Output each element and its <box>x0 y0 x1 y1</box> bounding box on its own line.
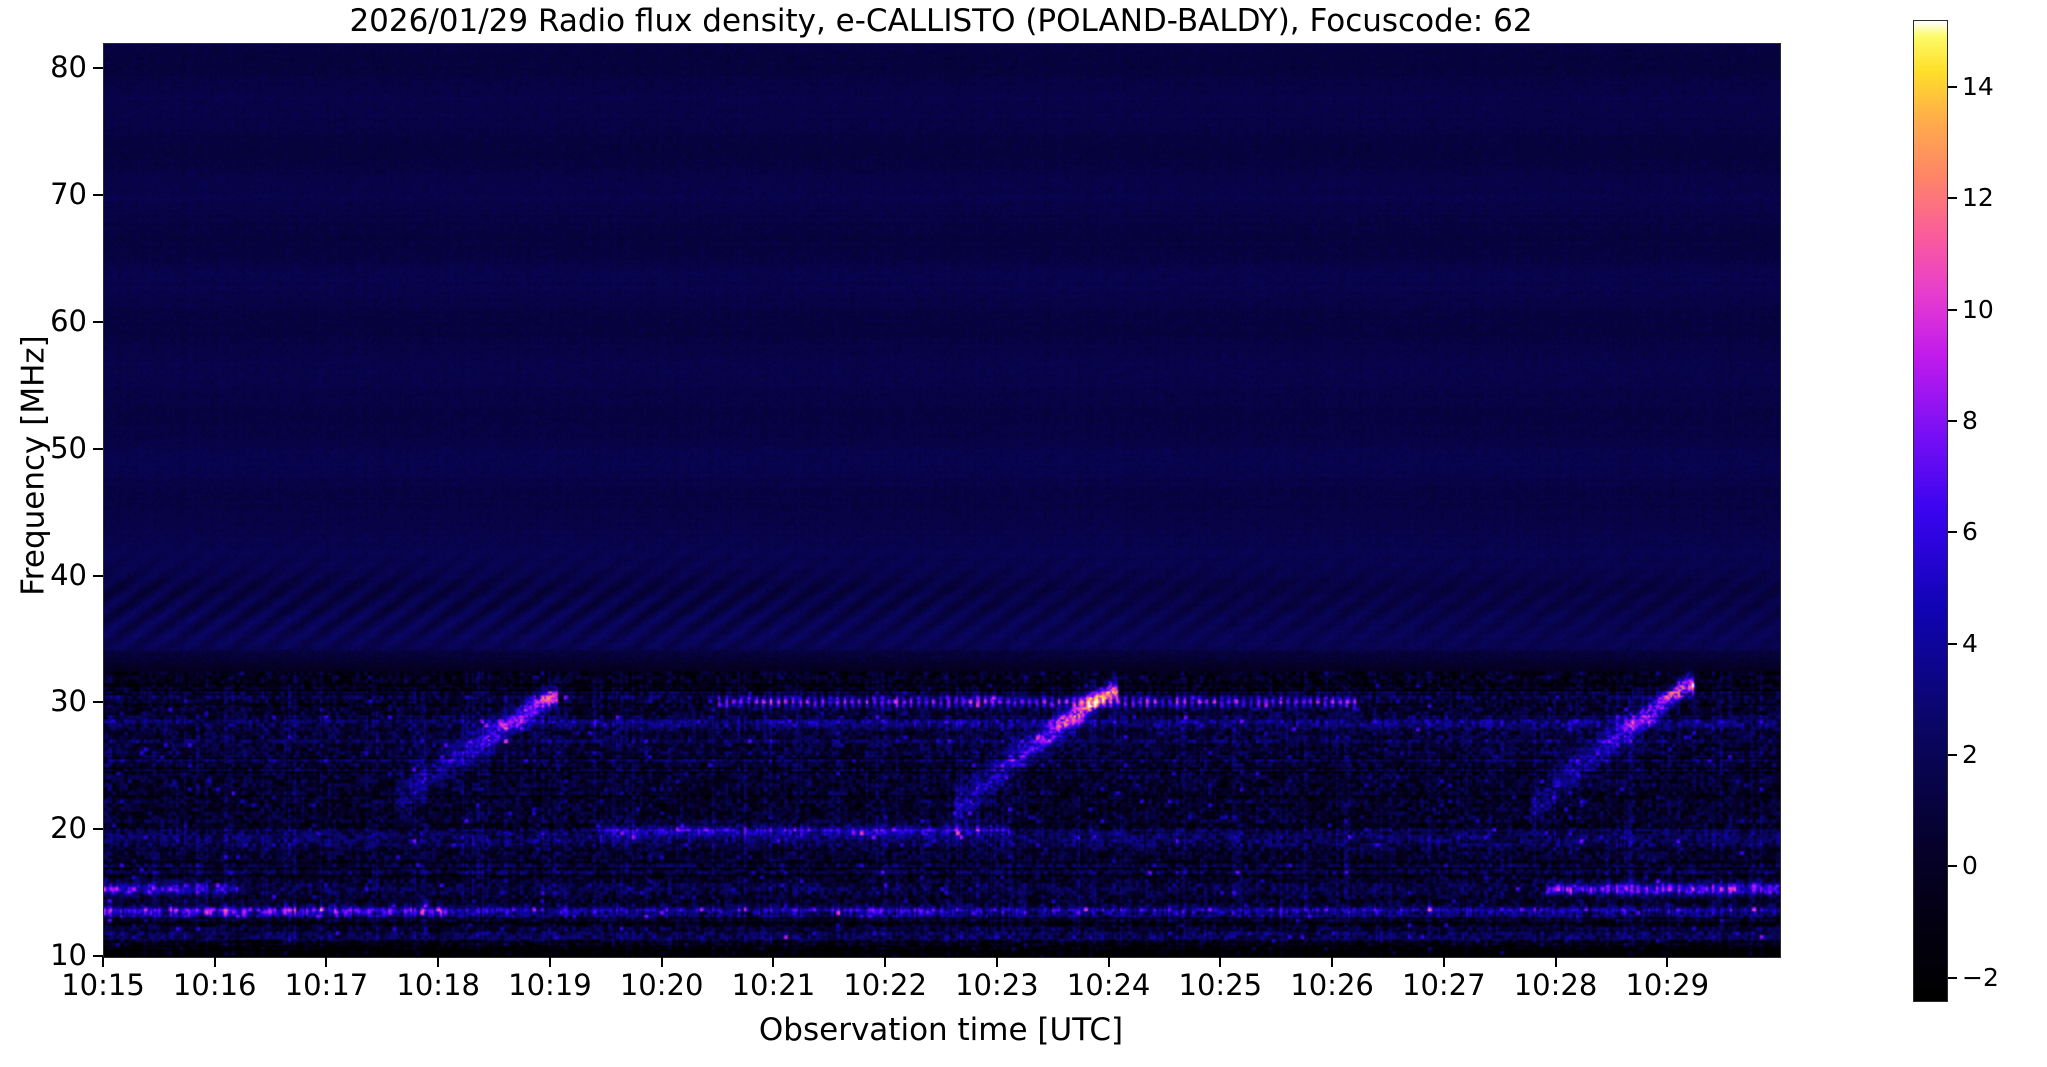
colorbar-tick-mark <box>1948 865 1957 867</box>
figure-canvas: 2026/01/29 Radio flux density, e-CALLIST… <box>0 0 2047 1067</box>
colorbar-tick-label: 10 <box>1962 297 1994 322</box>
colorbar-tick-label: 2 <box>1962 742 1978 767</box>
colorbar-tick-mark <box>1948 420 1957 422</box>
colorbar-tick-label: 8 <box>1962 408 1978 433</box>
colorbar-tick-mark <box>1948 754 1957 756</box>
colorbar-tick-label: 6 <box>1962 519 1978 544</box>
colorbar-tick-mark <box>1948 643 1957 645</box>
colorbar-tick-mark <box>1948 197 1957 199</box>
colorbar-tick-label: 12 <box>1962 185 1994 210</box>
colorbar-ticks: −202468101214 <box>0 0 2047 1067</box>
colorbar-tick-label: 14 <box>1962 74 1994 99</box>
colorbar-tick-mark <box>1948 309 1957 311</box>
colorbar-tick-mark <box>1948 977 1957 979</box>
colorbar-tick-label: 4 <box>1962 631 1978 656</box>
colorbar-tick-mark <box>1948 531 1957 533</box>
colorbar-tick-mark <box>1948 86 1957 88</box>
colorbar-tick-label: −2 <box>1962 965 1999 990</box>
colorbar-tick-label: 0 <box>1962 853 1978 878</box>
